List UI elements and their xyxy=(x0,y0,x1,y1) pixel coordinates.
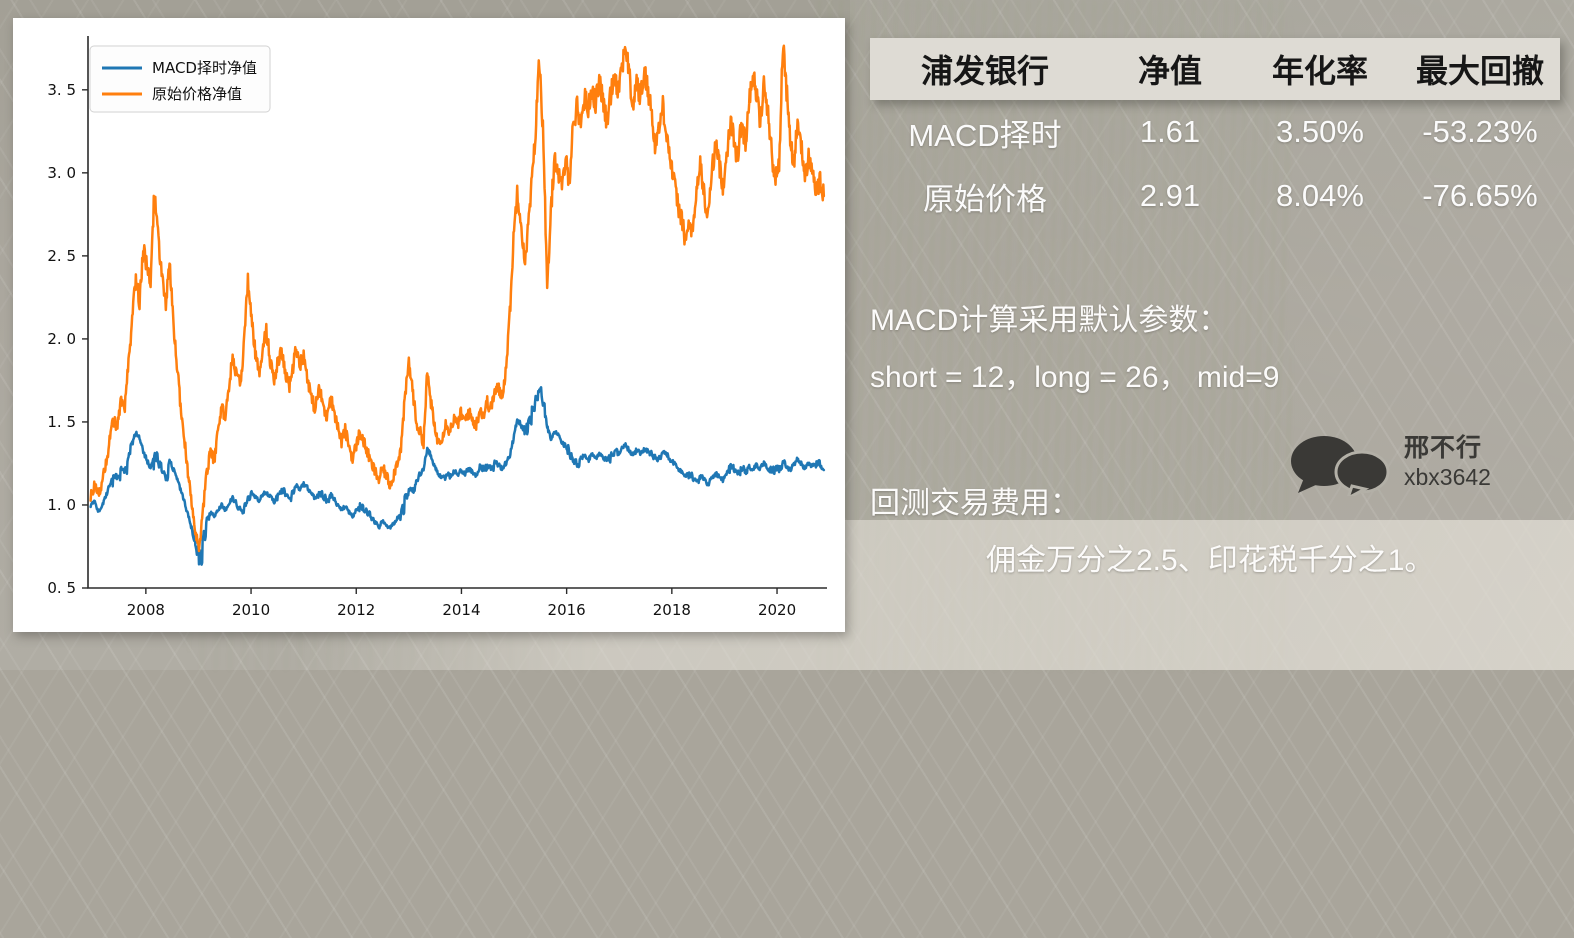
x-tick-label: 2020 xyxy=(758,601,796,619)
table-header-nav: 净值 xyxy=(1100,46,1240,92)
table-header-annual-return: 年化率 xyxy=(1240,46,1400,92)
row-label-macd: MACD择时 xyxy=(870,110,1100,155)
row-annual-price: 8.04% xyxy=(1240,178,1400,214)
row-drawdown-price: -76.65% xyxy=(1400,178,1560,214)
x-tick-label: 2018 xyxy=(653,601,691,619)
legend-label: MACD择时净值 xyxy=(152,59,257,77)
y-tick-label: 2. 5 xyxy=(47,247,76,265)
equity-curve-chart-panel: 0. 51. 01. 52. 02. 53. 03. 5200820102012… xyxy=(13,18,845,632)
x-tick-label: 2010 xyxy=(232,601,270,619)
x-tick-label: 2008 xyxy=(127,601,165,619)
table-row: 原始价格 2.91 8.04% -76.65% xyxy=(870,164,1560,228)
fee-detail: 佣金万分之2.5、印花税千分之1。 xyxy=(986,535,1434,579)
watermark-name: 邢不行 xyxy=(1404,428,1482,464)
info-panel: 浦发银行 净值 年化率 最大回撤 MACD择时 1.61 3.50% -53.2… xyxy=(862,0,1574,670)
chat-bubbles-icon xyxy=(1286,434,1396,496)
chart-legend: MACD择时净值原始价格净值 xyxy=(90,46,270,112)
row-nav-macd: 1.61 xyxy=(1100,114,1240,150)
y-tick-label: 3. 5 xyxy=(47,81,76,99)
row-label-price: 原始价格 xyxy=(870,174,1100,219)
performance-table: 浦发银行 净值 年化率 最大回撤 MACD择时 1.61 3.50% -53.2… xyxy=(870,38,1560,228)
y-tick-label: 2. 0 xyxy=(47,330,76,348)
fee-title: 回测交易费用： xyxy=(870,478,1080,522)
y-tick-label: 1. 0 xyxy=(47,496,76,514)
y-tick-label: 0. 5 xyxy=(47,579,76,597)
x-tick-label: 2014 xyxy=(442,601,480,619)
chart-series-group xyxy=(91,46,824,565)
legend-label: 原始价格净值 xyxy=(152,85,242,103)
macd-params-title: MACD计算采用默认参数： xyxy=(870,295,1228,339)
macd-params-values: short = 12，long = 26， mid=9 xyxy=(870,352,1279,396)
x-tick-label: 2016 xyxy=(548,601,586,619)
table-header-asset: 浦发银行 xyxy=(870,46,1100,92)
table-header-row: 浦发银行 净值 年化率 最大回撤 xyxy=(870,38,1560,100)
x-tick-label: 2012 xyxy=(337,601,375,619)
watermark: 邢不行 xbx3642 xyxy=(1286,428,1546,504)
y-tick-label: 3. 0 xyxy=(47,164,76,182)
table-header-max-drawdown: 最大回撤 xyxy=(1400,46,1560,92)
y-tick-label: 1. 5 xyxy=(47,413,76,431)
table-row: MACD择时 1.61 3.50% -53.23% xyxy=(870,100,1560,164)
watermark-id: xbx3642 xyxy=(1404,464,1491,491)
row-annual-macd: 3.50% xyxy=(1240,114,1400,150)
row-nav-price: 2.91 xyxy=(1100,178,1240,214)
equity-curve-chart: 0. 51. 01. 52. 02. 53. 03. 5200820102012… xyxy=(13,18,845,632)
row-drawdown-macd: -53.23% xyxy=(1400,114,1560,150)
chart-axes-group: 0. 51. 01. 52. 02. 53. 03. 5200820102012… xyxy=(47,36,827,619)
